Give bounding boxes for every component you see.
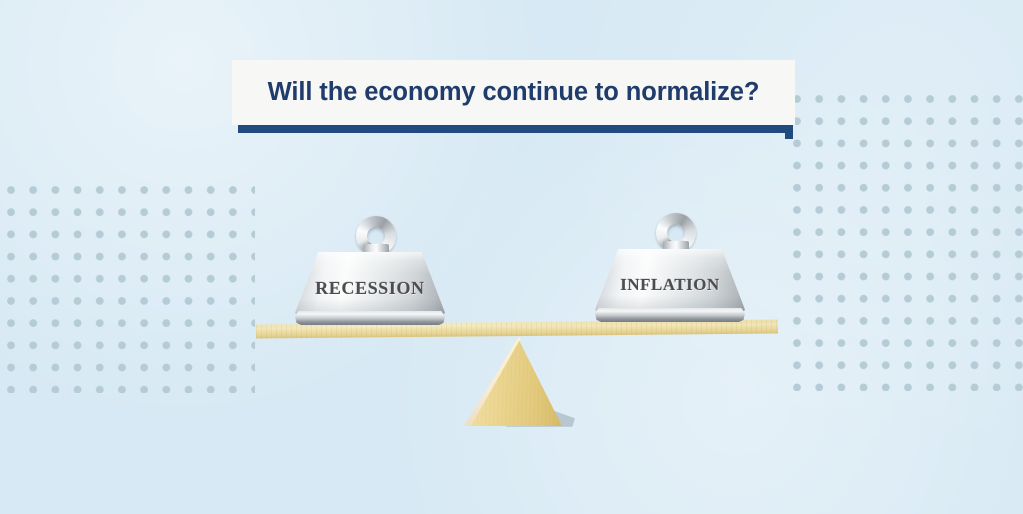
weight-ring-hole — [667, 224, 685, 242]
triangle-fulcrum-icon — [464, 338, 562, 426]
weight-ring-hole — [367, 227, 385, 245]
graphic-canvas: Will the economy continue to normalize? … — [0, 0, 1023, 514]
weight-base-plate — [295, 311, 445, 325]
weight-recession: RECESSION — [295, 216, 445, 326]
weight-label-recession: RECESSION — [295, 278, 445, 299]
weight-label-inflation: INFLATION — [595, 275, 745, 295]
balance-scale-illustration: RECESSION INFLATION — [0, 0, 1023, 514]
weight-base-plate — [595, 308, 745, 322]
weight-inflation: INFLATION — [595, 213, 745, 323]
